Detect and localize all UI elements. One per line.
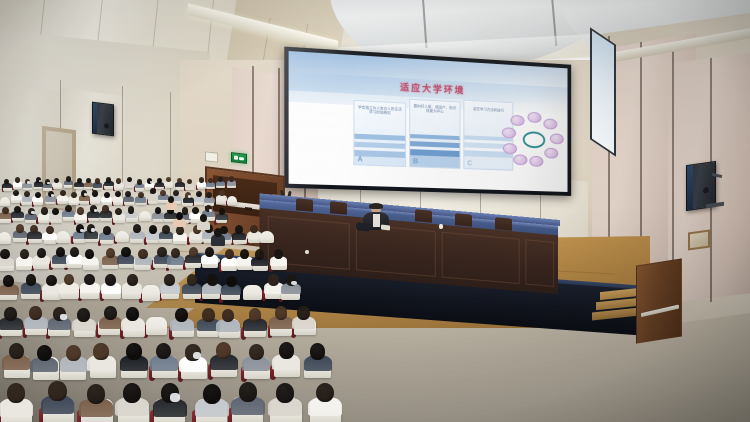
audience-member-head: [316, 383, 334, 403]
audience-member-head: [127, 177, 132, 183]
audience-member-head: [77, 207, 84, 214]
water-bottle: [439, 224, 443, 229]
audience-member-head: [202, 308, 215, 322]
chair: [296, 198, 313, 211]
auditorium-photo: 适应大学环境 学会独立为人有办人的生活学习的独株实 A 要树好人家、调适产、知识…: [0, 0, 750, 422]
audience-member-head: [77, 308, 90, 322]
audience-member-head: [157, 247, 166, 257]
audience-member-head: [249, 308, 262, 322]
audience-member-head: [276, 383, 294, 403]
audience-member-head: [106, 177, 111, 183]
audience-member-head: [4, 307, 17, 321]
audience-member-head: [123, 383, 141, 403]
audience-member-head: [279, 342, 294, 359]
audience-member-head: [46, 226, 54, 235]
audience-member-head: [240, 249, 249, 259]
audience-member-head: [104, 192, 110, 198]
chair: [415, 209, 432, 222]
audience-member-head: [16, 224, 24, 233]
floor-object: [305, 250, 309, 254]
audience-member-head: [37, 248, 46, 258]
face-mask: [51, 194, 54, 197]
audience-member-head: [137, 179, 142, 185]
audience-member-head: [106, 248, 115, 258]
slide-radial-diagram: [503, 111, 561, 172]
audience-member-head: [41, 207, 48, 214]
audience-member-head: [95, 178, 100, 184]
audience-member-head: [229, 176, 234, 182]
slide-card-c-letter: C: [467, 160, 472, 167]
audience-member-head: [87, 384, 105, 404]
audience-member-head: [200, 214, 207, 222]
slide-card-b-text: 要树好人家、调适产、知识技能为中心: [413, 104, 456, 114]
presenter-shirt: [373, 214, 380, 227]
audience-member-head: [150, 188, 156, 194]
audience-member-head: [176, 212, 183, 220]
audience-member-head: [26, 274, 37, 286]
slide-card-b: 要树好人家、调适产、知识技能为中心 B: [409, 99, 460, 169]
audience-member-head: [274, 249, 283, 259]
auditorium-seat[interactable]: [260, 231, 274, 243]
audience-member-head: [226, 276, 237, 288]
auditorium-seat[interactable]: [139, 211, 151, 221]
wall-plaque: [688, 229, 710, 250]
audience-member-head: [115, 208, 122, 215]
presenter-hair: [369, 203, 383, 209]
audience-member-head: [164, 274, 175, 286]
audience-member-head: [275, 306, 288, 320]
audience-member-head: [235, 225, 243, 234]
audience-member-head: [24, 191, 30, 197]
slide-card-a-letter: A: [357, 156, 362, 163]
audience-member-head: [66, 345, 81, 362]
audience-member-head: [239, 382, 257, 402]
slide-card-b-letter: B: [413, 158, 418, 165]
audience-member-head: [199, 177, 204, 183]
auditorium-seat[interactable]: [0, 232, 11, 244]
chair: [455, 213, 472, 226]
audience-member-head: [121, 247, 130, 257]
audience-member-head: [14, 206, 21, 213]
face-mask: [170, 393, 179, 401]
audience-member-head: [176, 226, 184, 235]
chair: [330, 201, 347, 214]
audience-member-head: [166, 177, 171, 183]
auditorium-seat[interactable]: [56, 231, 70, 243]
audience-member-head: [138, 192, 144, 198]
auditorium-seat[interactable]: [115, 231, 129, 243]
wall-control-panel[interactable]: [205, 151, 218, 162]
audience-member-head: [149, 225, 157, 234]
audience-member-head: [70, 247, 79, 257]
audience-member-head: [216, 342, 231, 359]
audience-member-head: [52, 208, 59, 215]
audience-member-head: [219, 208, 226, 215]
audience-member-head: [268, 274, 279, 286]
audience-member-head: [2, 207, 9, 214]
audience-member-head: [115, 191, 121, 197]
auditorium-seat[interactable]: [142, 285, 161, 301]
audience-member-head: [203, 384, 221, 404]
audience-member-head: [208, 178, 213, 184]
audience-member-head: [127, 274, 138, 286]
audience-member-head: [171, 248, 180, 258]
audience-member-head: [207, 274, 218, 286]
audience-member-head: [168, 196, 174, 203]
audience-member-head: [138, 249, 147, 259]
audience-member-head: [60, 190, 66, 196]
audience-member-head: [102, 205, 109, 212]
audience-member-head: [219, 190, 225, 196]
auditorium-seat[interactable]: [146, 317, 168, 335]
audience-member-head: [35, 192, 41, 198]
audience-member-head: [0, 249, 9, 259]
audience-member-head: [85, 249, 94, 259]
audience-member-head: [187, 179, 192, 185]
window-right: [590, 27, 616, 157]
exit-sign: [231, 152, 247, 164]
audience-member-head: [126, 307, 139, 321]
audience-member-head: [77, 178, 82, 184]
slide-card-a: 学会独立为人有办人的生活学习的独株实 A: [353, 100, 406, 167]
wall-groove: [672, 50, 674, 290]
audience-member-head: [3, 275, 14, 287]
audience-member-head: [15, 177, 20, 183]
audience-member-head: [160, 190, 166, 196]
audience-member-head: [255, 249, 264, 259]
audience-member-head: [104, 306, 117, 320]
audience-member-head: [9, 343, 24, 360]
chair: [495, 217, 512, 230]
audience-member-head: [133, 224, 141, 233]
projection-screen: 适应大学环境 学会独立为人有办人的生活学习的独株实 A 要树好人家、调适产、知识…: [284, 47, 571, 196]
audience-member-head: [7, 383, 25, 403]
face-mask: [27, 181, 30, 183]
audience-member-head: [214, 228, 222, 237]
audience-member-head: [249, 344, 264, 361]
audience-member-head: [189, 247, 198, 257]
auditorium-seat[interactable]: [243, 285, 262, 301]
audience-member-head: [20, 249, 29, 259]
auditorium-seat[interactable]: [0, 197, 10, 206]
door-right[interactable]: [636, 258, 682, 343]
paper: [381, 225, 390, 231]
auditorium-seat[interactable]: [227, 196, 237, 205]
audience-member-head: [187, 274, 198, 286]
audience-member-head: [192, 207, 199, 214]
audience-member-head: [93, 343, 108, 360]
audience-member-head: [126, 343, 141, 360]
audience-member-head: [173, 190, 179, 196]
audience-member-head: [103, 226, 111, 235]
laptop: [356, 222, 370, 231]
audience-member-head: [84, 274, 95, 286]
audience-member-head: [37, 345, 52, 362]
audience-member-head: [128, 206, 135, 213]
audience-member-head: [56, 247, 65, 257]
face-mask: [209, 209, 213, 212]
projection-screen-surface: 适应大学环境 学会独立为人有办人的生活学习的独株实 A 要树好人家、调适产、知识…: [289, 51, 568, 192]
audience-member-head: [29, 306, 42, 320]
audience-member-head: [105, 274, 116, 286]
audience-member-head: [310, 343, 325, 360]
audience-member-head: [297, 306, 310, 320]
audience-member-head: [71, 192, 77, 198]
audience-member-head: [66, 176, 71, 182]
audience-member-head: [48, 381, 66, 401]
wall-speaker-left: [92, 102, 114, 137]
audience-member-head: [175, 308, 188, 322]
audience-member-head: [162, 225, 170, 234]
audience-member-head: [205, 247, 214, 257]
face-mask: [60, 314, 67, 320]
slide-card-a-text: 学会独立为人有办人的生活学习的独株实: [357, 105, 402, 116]
audience-member-head: [157, 178, 162, 184]
